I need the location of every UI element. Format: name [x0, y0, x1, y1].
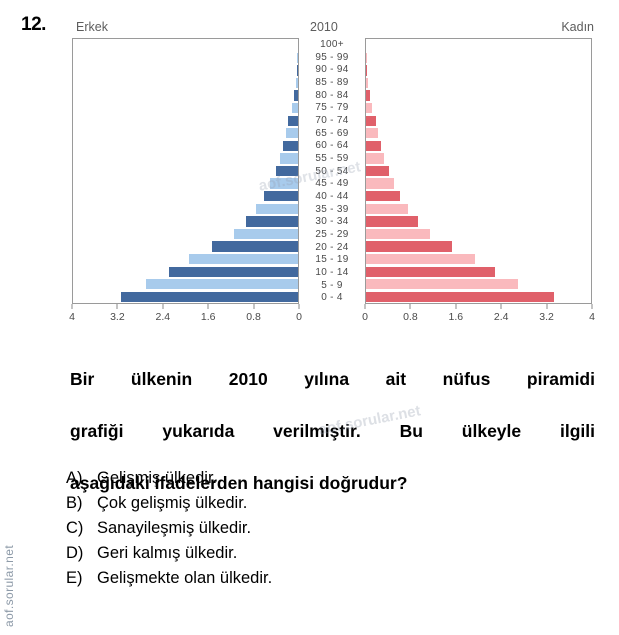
male-bar-row: [73, 177, 298, 190]
age-label-row: 40 - 44: [299, 190, 365, 203]
age-label-row: 90 - 94: [299, 63, 365, 76]
female-bar-row: [366, 39, 591, 52]
female-bar: [366, 279, 518, 289]
male-axis-tick-label: 0.8: [246, 311, 261, 323]
male-bar-row: [73, 127, 298, 140]
age-label-row: 55 - 59: [299, 152, 365, 165]
male-bar: [246, 216, 298, 226]
female-axis-tick: [410, 304, 411, 309]
female-bar: [366, 204, 408, 214]
male-bar-row: [73, 64, 298, 77]
age-group-label: 100+: [299, 38, 365, 51]
male-bar-row: [73, 114, 298, 127]
age-group-label: 20 - 24: [299, 241, 365, 254]
age-label-row: 45 - 49: [299, 177, 365, 190]
option-text: Geri kalmış ülkedir.: [97, 541, 586, 566]
female-axis-tick-label: 0.8: [403, 311, 418, 323]
age-group-label: 65 - 69: [299, 127, 365, 140]
male-bar: [256, 204, 298, 214]
option-text: Sanayileşmiş ülkedir.: [97, 516, 586, 541]
male-axis-tick: [208, 304, 209, 309]
female-bar: [366, 90, 370, 100]
age-label-row: 65 - 69: [299, 127, 365, 140]
age-label-row: 100+: [299, 38, 365, 51]
option-text: Çok gelişmiş ülkedir.: [97, 491, 586, 516]
age-label-row: 20 - 24: [299, 241, 365, 254]
female-bar-rows: [366, 39, 591, 303]
female-bar-row: [366, 165, 591, 178]
female-panel: [365, 38, 592, 304]
male-axis-tick-label: 3.2: [110, 311, 125, 323]
female-bar: [366, 166, 389, 176]
age-label-row: 10 - 14: [299, 266, 365, 279]
male-axis-tick: [162, 304, 163, 309]
age-group-label: 95 - 99: [299, 51, 365, 64]
female-axis-tick-label: 0: [362, 311, 368, 323]
age-group-label: 90 - 94: [299, 63, 365, 76]
male-bar: [292, 103, 298, 113]
female-bar: [366, 292, 554, 302]
female-bar-row: [366, 177, 591, 190]
female-bar-row: [366, 89, 591, 102]
answer-option[interactable]: A)Gelişmiş ülkedir.: [66, 466, 586, 491]
female-bar: [366, 229, 430, 239]
age-group-label: 70 - 74: [299, 114, 365, 127]
female-bar-row: [366, 152, 591, 165]
answer-option[interactable]: B)Çok gelişmiş ülkedir.: [66, 491, 586, 516]
male-bar: [264, 191, 298, 201]
age-group-label: 40 - 44: [299, 190, 365, 203]
female-bar: [366, 191, 400, 201]
age-group-label: 0 - 4: [299, 291, 365, 304]
female-bar: [366, 267, 495, 277]
age-label-row: 85 - 89: [299, 76, 365, 89]
female-bar: [366, 116, 376, 126]
question-line: grafiği yukarıda verilmiştir. Bu ülkeyle…: [70, 418, 595, 470]
male-bar: [286, 128, 298, 138]
age-label-row: 60 - 64: [299, 139, 365, 152]
male-axis-tick-label: 0: [296, 311, 302, 323]
age-label-row: 25 - 29: [299, 228, 365, 241]
male-bar: [288, 116, 298, 126]
female-bar-row: [366, 77, 591, 90]
age-group-label: 55 - 59: [299, 152, 365, 165]
age-label-row: 15 - 19: [299, 253, 365, 266]
male-bar-row: [73, 152, 298, 165]
male-bar: [283, 141, 298, 151]
age-group-label: 30 - 34: [299, 215, 365, 228]
option-text: Gelişmekte olan ülkedir.: [97, 566, 586, 591]
chart-title-year: 2010: [310, 20, 338, 34]
male-bar-row: [73, 165, 298, 178]
age-label-row: 30 - 34: [299, 215, 365, 228]
male-axis-tick-label: 1.6: [201, 311, 216, 323]
age-group-label: 10 - 14: [299, 266, 365, 279]
male-bar-row: [73, 52, 298, 65]
female-bar: [366, 254, 475, 264]
female-bar-row: [366, 52, 591, 65]
female-bar-row: [366, 203, 591, 216]
option-letter: E): [66, 566, 97, 591]
answer-option[interactable]: E)Gelişmekte olan ülkedir.: [66, 566, 586, 591]
option-letter: C): [66, 516, 97, 541]
answer-option[interactable]: C)Sanayileşmiş ülkedir.: [66, 516, 586, 541]
female-axis-tick-label: 2.4: [494, 311, 509, 323]
female-bar-row: [366, 215, 591, 228]
male-bar: [169, 267, 298, 277]
age-label-rows: 100+95 - 9990 - 9485 - 8980 - 8475 - 797…: [299, 38, 365, 304]
male-bar-rows: [73, 39, 298, 303]
answer-option[interactable]: D)Geri kalmış ülkedir.: [66, 541, 586, 566]
male-bar-row: [73, 89, 298, 102]
female-axis-tick: [501, 304, 502, 309]
male-bar: [212, 241, 298, 251]
male-bar: [234, 229, 298, 239]
male-bar-row: [73, 140, 298, 153]
age-label-row: 0 - 4: [299, 291, 365, 304]
female-bar: [366, 241, 452, 251]
age-label-row: 70 - 74: [299, 114, 365, 127]
site-watermark: aof.sorular.net: [2, 497, 20, 627]
age-label-row: 35 - 39: [299, 203, 365, 216]
chart-label-male: Erkek: [76, 20, 108, 34]
female-bar-row: [366, 140, 591, 153]
male-bar-row: [73, 265, 298, 278]
female-axis-tick: [546, 304, 547, 309]
female-bar: [366, 78, 368, 88]
female-bar-row: [366, 265, 591, 278]
pyramid-body: 100+95 - 9990 - 9485 - 8980 - 8475 - 797…: [72, 38, 596, 304]
age-label-row: 50 - 54: [299, 165, 365, 178]
female-axis-tick: [455, 304, 456, 309]
male-bar: [297, 53, 298, 63]
age-group-label: 35 - 39: [299, 203, 365, 216]
female-bar-row: [366, 291, 591, 304]
male-bar-row: [73, 102, 298, 115]
age-label-row: 5 - 9: [299, 279, 365, 292]
male-bar-row: [73, 77, 298, 90]
age-label-row: 95 - 99: [299, 51, 365, 64]
age-group-label: 15 - 19: [299, 253, 365, 266]
female-bar-row: [366, 64, 591, 77]
male-bar: [294, 90, 298, 100]
female-bar-row: [366, 278, 591, 291]
female-bar-row: [366, 127, 591, 140]
male-axis-tick: [299, 304, 300, 309]
female-axis-tick: [592, 304, 593, 309]
female-bar-row: [366, 102, 591, 115]
female-bar: [366, 178, 394, 188]
age-group-axis: 100+95 - 9990 - 9485 - 8980 - 8475 - 797…: [299, 38, 365, 304]
age-label-row: 80 - 84: [299, 89, 365, 102]
female-axis-tick-label: 1.6: [448, 311, 463, 323]
male-bar-row: [73, 215, 298, 228]
option-text: Gelişmiş ülkedir.: [97, 466, 586, 491]
male-bar-row: [73, 240, 298, 253]
option-letter: A): [66, 466, 97, 491]
male-axis-tick-label: 4: [69, 311, 75, 323]
age-label-row: 75 - 79: [299, 101, 365, 114]
axis-female-values: 00.81.62.43.24: [365, 304, 592, 334]
male-panel: [72, 38, 299, 304]
male-bar-row: [73, 190, 298, 203]
male-bar: [189, 254, 298, 264]
male-bar-row: [73, 278, 298, 291]
female-bar: [366, 103, 372, 113]
male-bar: [276, 166, 299, 176]
male-bar: [296, 78, 298, 88]
chart-label-female: Kadın: [561, 20, 594, 34]
age-group-label: 25 - 29: [299, 228, 365, 241]
female-bar-row: [366, 228, 591, 241]
female-bar-row: [366, 240, 591, 253]
female-axis-tick-label: 4: [589, 311, 595, 323]
chart-header: Erkek 2010 Kadın: [72, 18, 596, 38]
female-bar-row: [366, 114, 591, 127]
male-axis-tick: [117, 304, 118, 309]
female-bar-row: [366, 190, 591, 203]
male-axis-tick: [72, 304, 73, 309]
age-group-label: 60 - 64: [299, 139, 365, 152]
female-bar: [366, 65, 367, 75]
male-bar-row: [73, 253, 298, 266]
option-letter: B): [66, 491, 97, 516]
male-bar: [280, 153, 298, 163]
age-group-label: 80 - 84: [299, 89, 365, 102]
male-bar-row: [73, 203, 298, 216]
female-bar: [366, 53, 367, 63]
female-axis-tick-label: 3.2: [539, 311, 554, 323]
female-bar: [366, 141, 381, 151]
value-axes: 43.22.41.60.80 00.81.62.43.24: [72, 304, 596, 334]
age-group-label: 5 - 9: [299, 279, 365, 292]
age-group-label: 50 - 54: [299, 165, 365, 178]
male-bar: [146, 279, 298, 289]
female-axis-tick: [365, 304, 366, 309]
male-bar: [297, 65, 298, 75]
age-group-label: 75 - 79: [299, 101, 365, 114]
female-bar: [366, 216, 418, 226]
age-group-label: 45 - 49: [299, 177, 365, 190]
axis-spacer: [299, 304, 365, 334]
population-pyramid-chart: Erkek 2010 Kadın 100+95 - 9990 - 9485 - …: [72, 18, 596, 348]
age-group-label: 85 - 89: [299, 76, 365, 89]
male-axis-tick-label: 2.4: [155, 311, 170, 323]
female-bar: [366, 128, 378, 138]
male-axis-tick: [253, 304, 254, 309]
male-bar-row: [73, 39, 298, 52]
female-bar: [366, 153, 384, 163]
male-bar: [121, 292, 298, 302]
male-bar-row: [73, 291, 298, 304]
option-letter: D): [66, 541, 97, 566]
question-number: 12.: [21, 14, 46, 36]
axis-male-values: 43.22.41.60.80: [72, 304, 299, 334]
male-bar-row: [73, 228, 298, 241]
male-bar: [270, 178, 298, 188]
question-line: Bir ülkenin 2010 yılına ait nüfus pirami…: [70, 366, 595, 418]
female-bar-row: [366, 253, 591, 266]
answer-options: A)Gelişmiş ülkedir.B)Çok gelişmiş ülkedi…: [66, 466, 586, 591]
